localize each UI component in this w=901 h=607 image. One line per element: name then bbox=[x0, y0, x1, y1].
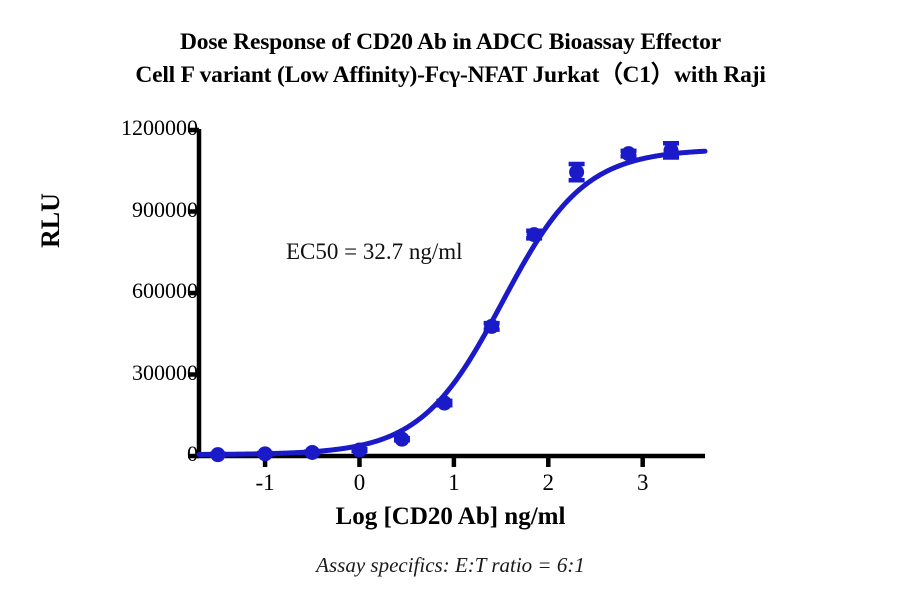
data-point-marker bbox=[305, 445, 320, 460]
figure-footer: Assay specifics: E:T ratio = 6:1 bbox=[0, 553, 901, 578]
data-point-marker bbox=[437, 396, 452, 411]
data-point-marker bbox=[664, 143, 679, 158]
data-point-marker bbox=[210, 447, 225, 462]
fit-curve bbox=[199, 151, 705, 454]
data-point-marker bbox=[527, 227, 542, 242]
ec50-annotation: EC50 = 32.7 ng/ml bbox=[286, 239, 463, 265]
data-point-marker bbox=[621, 146, 636, 161]
plot-area bbox=[0, 0, 901, 607]
data-point-marker bbox=[258, 446, 273, 461]
data-point-marker bbox=[569, 165, 584, 180]
chart-figure: Dose Response of CD20 Ab in ADCC Bioassa… bbox=[0, 0, 901, 607]
data-point-marker bbox=[352, 443, 367, 458]
data-point-marker bbox=[484, 319, 499, 334]
data-point-marker bbox=[394, 432, 409, 447]
